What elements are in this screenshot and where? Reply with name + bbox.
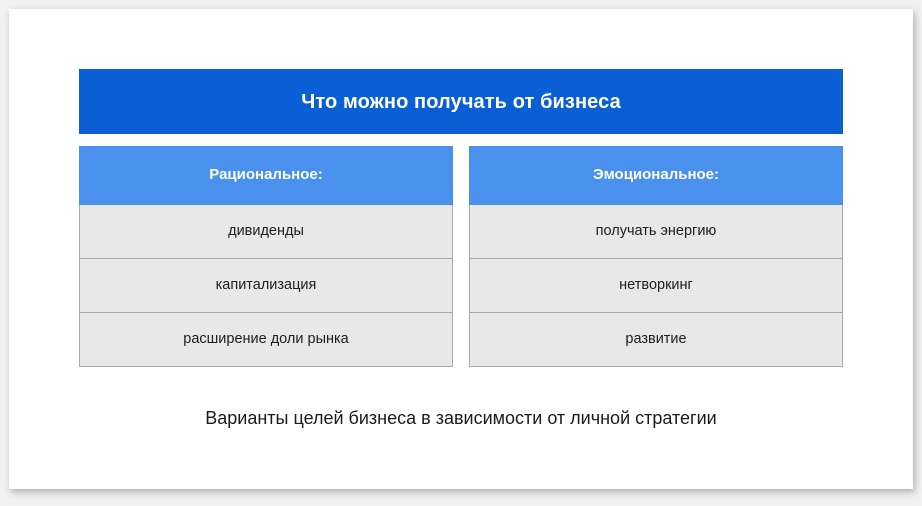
column-header-rational: Рациональное: bbox=[79, 146, 453, 205]
slide-title-bar: Что можно получать от бизнеса bbox=[79, 69, 843, 134]
table-row: получать энергию bbox=[469, 205, 843, 259]
table-row: дивиденды bbox=[79, 205, 453, 259]
slide-caption: Варианты целей бизнеса в зависимости от … bbox=[79, 408, 843, 430]
cell-label: нетворкинг bbox=[619, 277, 693, 294]
cell-label: капитализация bbox=[216, 277, 317, 294]
cell-label: развитие bbox=[625, 331, 686, 348]
table-row: нетворкинг bbox=[469, 259, 843, 313]
column-header-label: Рациональное: bbox=[209, 167, 322, 184]
column-rational: Рациональное: дивиденды капитализация ра… bbox=[79, 146, 453, 367]
slide-card: Что можно получать от бизнеса Рациональн… bbox=[9, 9, 913, 489]
table-row: капитализация bbox=[79, 259, 453, 313]
cell-label: дивиденды bbox=[228, 223, 304, 240]
comparison-columns: Рациональное: дивиденды капитализация ра… bbox=[79, 146, 843, 367]
column-header-emotional: Эмоциональное: bbox=[469, 146, 843, 205]
cell-label: расширение доли рынка bbox=[183, 331, 348, 348]
slide-title: Что можно получать от бизнеса bbox=[301, 91, 621, 113]
cell-label: получать энергию bbox=[596, 223, 717, 240]
table-row: расширение доли рынка bbox=[79, 313, 453, 367]
table-row: развитие bbox=[469, 313, 843, 367]
column-header-label: Эмоциональное: bbox=[593, 167, 719, 184]
column-emotional: Эмоциональное: получать энергию нетворки… bbox=[469, 146, 843, 367]
